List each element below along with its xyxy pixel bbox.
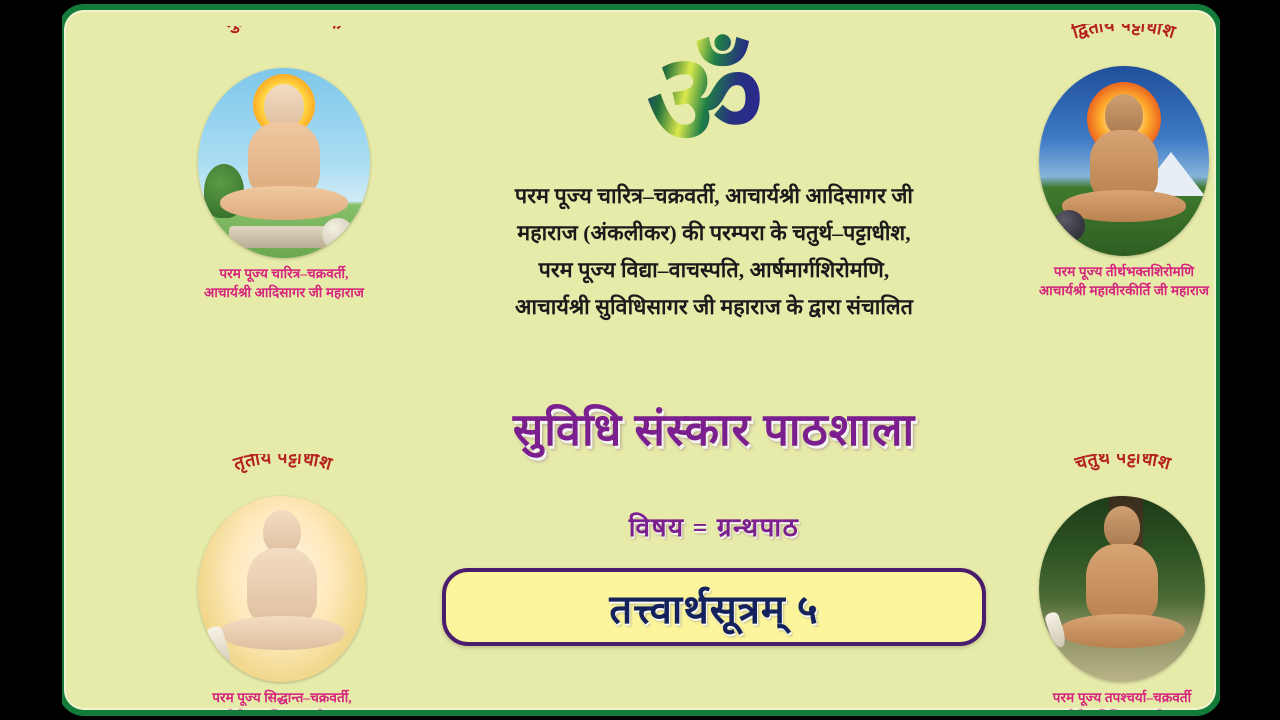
page-title: सुविधि संस्कार पाठशाला bbox=[364, 398, 1064, 459]
description-line-4: आचार्यश्री सुविधिसागर जी महाराज के द्वार… bbox=[394, 289, 1034, 326]
topic-text: तत्त्वार्थसूत्रम् ५ bbox=[609, 580, 818, 635]
portrait-block-top-right: द्वितीय पट्टाधीश परम पूज्य तीर्थभक्तशिरो… bbox=[994, 24, 1222, 300]
caption-bottom-right: परम पूज्य तपश्चर्या–चक्रवर्ती आचार्यश्री… bbox=[992, 688, 1222, 716]
caption-bottom-left-line-2: आचार्यश्री सन्मतिसागर जी महाराज bbox=[152, 707, 412, 716]
svg-text:ॐ: ॐ bbox=[647, 26, 764, 170]
arc-label-top-left-text: मुनिपरम्परानायक bbox=[221, 26, 346, 37]
caption-bottom-right-line-1: परम पूज्य तपश्चर्या–चक्रवर्ती bbox=[992, 688, 1222, 707]
caption-top-right-line-1: परम पूज्य तीर्थभक्तशिरोमणि bbox=[994, 262, 1222, 281]
description-line-3: परम पूज्य विद्या–वाचस्पति, आर्षमार्गशिरो… bbox=[394, 252, 1034, 289]
portrait-block-bottom-left: तृतीय पट्टाधीश परम पूज्य सिद्धान्त–चक्रव… bbox=[152, 454, 412, 716]
portrait-block-top-left: मुनिपरम्परानायक परम पूज्य चारित्र–चक्रवर… bbox=[154, 26, 414, 302]
caption-top-left: परम पूज्य चारित्र–चक्रवर्ती, आचार्यश्री … bbox=[154, 264, 414, 302]
portrait-block-bottom-right: चतुर्थ पट्टाधीश परम पूज्य तपश्चर्या–चक्र… bbox=[992, 454, 1222, 716]
letterbox-left bbox=[0, 0, 62, 720]
svg-text:तृतीय पट्टाधीश: तृतीय पट्टाधीश bbox=[230, 454, 334, 476]
portrait-image-top-left bbox=[198, 68, 370, 258]
caption-bottom-left: परम पूज्य सिद्धान्त–चक्रवर्ती, आचार्यश्र… bbox=[152, 688, 412, 716]
caption-bottom-left-line-1: परम पूज्य सिद्धान्त–चक्रवर्ती, bbox=[152, 688, 412, 707]
caption-top-right: परम पूज्य तीर्थभक्तशिरोमणि आचार्यश्री मह… bbox=[994, 262, 1222, 300]
description-line-2: महाराज (अंकलीकर) की परम्परा के चतुर्थ–पट… bbox=[394, 215, 1034, 252]
description-block: परम पूज्य चारित्र–चक्रवर्ती, आचार्यश्री … bbox=[394, 178, 1034, 326]
caption-top-right-line-2: आचार्यश्री महावीरकीर्ति जी महाराज bbox=[994, 281, 1222, 300]
arc-label-top-right-text: द्वितीय पट्टाधीश bbox=[1069, 24, 1179, 43]
caption-top-left-line-2: आचार्यश्री आदिसागर जी महाराज bbox=[154, 283, 414, 302]
arc-label-bottom-right: चतुर्थ पट्टाधीश bbox=[992, 454, 1222, 500]
description-line-1: परम पूज्य चारित्र–चक्रवर्ती, आचार्यश्री … bbox=[394, 178, 1034, 215]
subject-line: विषय = ग्रन्थपाठ bbox=[404, 508, 1024, 544]
topic-box: तत्त्वार्थसूत्रम् ५ bbox=[442, 568, 986, 646]
caption-top-left-line-1: परम पूज्य चारित्र–चक्रवर्ती, bbox=[154, 264, 414, 283]
arc-label-top-right: द्वितीय पट्टाधीश bbox=[994, 24, 1222, 70]
caption-bottom-right-line-2: आचार्यश्री सुविधिसागर जी महाराज bbox=[992, 707, 1222, 716]
svg-text:मुनिपरम्परानायक: मुनिपरम्परानायक bbox=[221, 26, 346, 37]
poster-panel: ॐ परम पूज्य चारित्र–चक्रवर्ती, आचार्यश्र… bbox=[58, 4, 1222, 716]
letterbox-right bbox=[1220, 0, 1280, 720]
svg-text:चतुर्थ पट्टाधीश: चतुर्थ पट्टाधीश bbox=[1072, 454, 1174, 474]
poster-stage: ॐ परम पूज्य चारित्र–चक्रवर्ती, आचार्यश्र… bbox=[0, 0, 1280, 720]
om-icon: ॐ bbox=[630, 18, 780, 170]
svg-text:द्वितीय पट्टाधीश: द्वितीय पट्टाधीश bbox=[1069, 24, 1179, 43]
arc-label-top-left: मुनिपरम्परानायक bbox=[154, 26, 414, 72]
portrait-image-top-right bbox=[1039, 66, 1209, 256]
arc-label-bottom-right-text: चतुर्थ पट्टाधीश bbox=[1072, 454, 1174, 474]
portrait-image-bottom-left bbox=[198, 496, 366, 682]
arc-label-bottom-left-text: तृतीय पट्टाधीश bbox=[230, 454, 334, 476]
arc-label-bottom-left: तृतीय पट्टाधीश bbox=[152, 454, 412, 500]
portrait-image-bottom-right bbox=[1039, 496, 1205, 682]
